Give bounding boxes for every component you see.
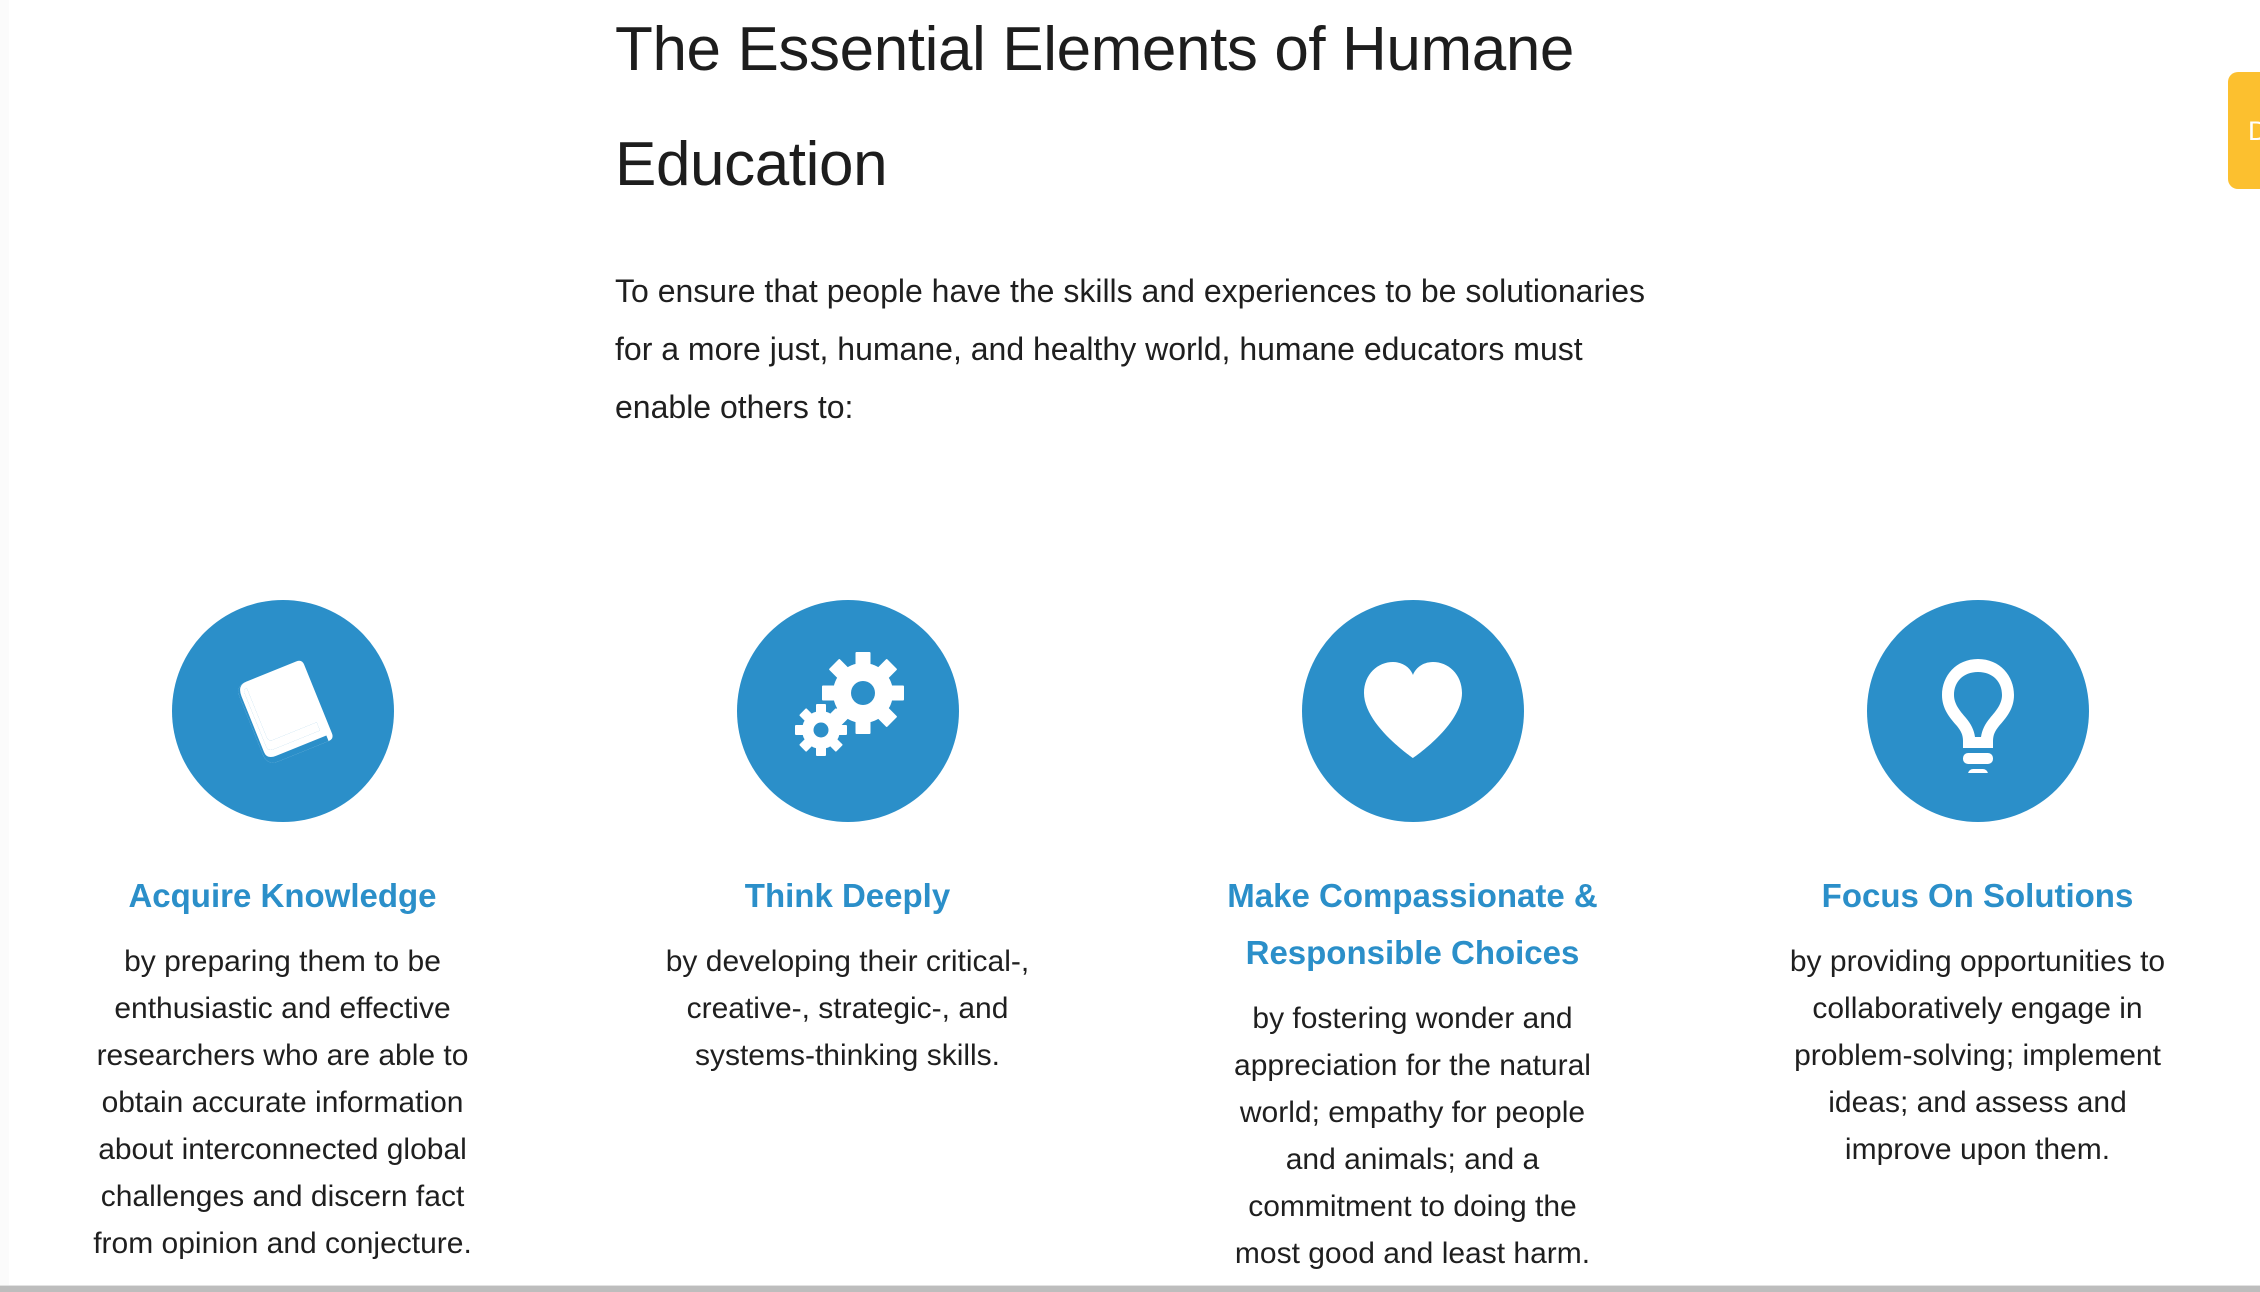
gears-icon (737, 600, 959, 822)
card-body: by providing opportunities to collaborat… (1778, 938, 2178, 1173)
card-title: Acquire Knowledge (128, 867, 436, 924)
feature-column-compassionate-choices: Make Compassionate & Responsible Choices… (1130, 600, 1695, 1277)
card-title: Focus On Solutions (1822, 867, 2134, 924)
card-title: Think Deeply (745, 867, 950, 924)
donate-tab-button[interactable]: D (2228, 72, 2260, 189)
feature-column-acquire-knowledge: Acquire Knowledge by preparing them to b… (0, 600, 565, 1267)
page-title: The Essential Elements of Humane Educati… (615, 0, 1705, 222)
feature-column-focus-on-solutions: Focus On Solutions by providing opportun… (1695, 600, 2260, 1173)
card-body: by developing their critical-, creative-… (633, 938, 1063, 1079)
donate-tab-label: D (2248, 116, 2260, 146)
feature-columns: Acquire Knowledge by preparing them to b… (0, 600, 2260, 1277)
heart-icon (1302, 600, 1524, 822)
header-block: The Essential Elements of Humane Educati… (615, 0, 1705, 436)
horizontal-scrollbar[interactable] (0, 1286, 2260, 1292)
intro-paragraph: To ensure that people have the skills an… (615, 262, 1675, 436)
lightbulb-icon (1867, 600, 2089, 822)
book-icon (172, 600, 394, 822)
card-body: by fostering wonder and appreciation for… (1213, 995, 1613, 1277)
card-title: Make Compassionate & Responsible Choices (1203, 867, 1623, 981)
feature-column-think-deeply: Think Deeply by developing their critica… (565, 600, 1130, 1079)
card-body: by preparing them to be enthusiastic and… (93, 938, 473, 1267)
page-root: The Essential Elements of Humane Educati… (0, 0, 2260, 1292)
